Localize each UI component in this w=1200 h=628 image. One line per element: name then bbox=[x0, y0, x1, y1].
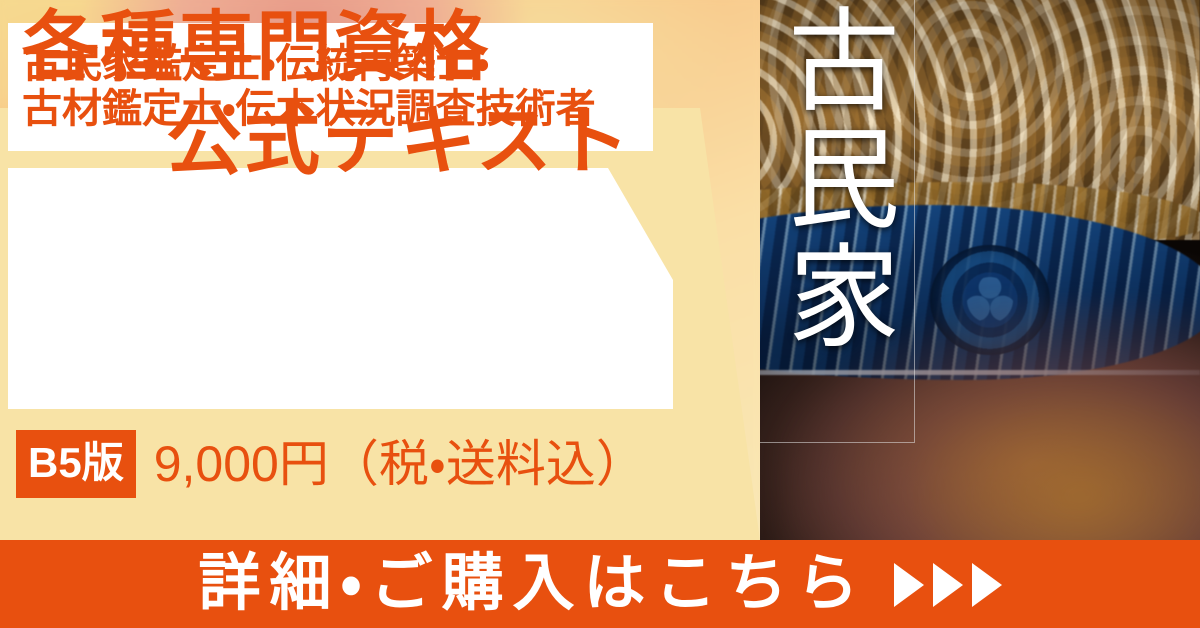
triangle-right-icon bbox=[894, 563, 924, 607]
format-badge-b5: B5版 bbox=[16, 430, 136, 498]
price-row: B5版 9,000円（税・送料込） bbox=[16, 430, 646, 498]
headline-card bbox=[8, 168, 673, 409]
cta-arrow-group bbox=[894, 563, 1002, 607]
triangle-right-icon bbox=[972, 563, 1002, 607]
cta-label: 詳細・ご購入はこちら bbox=[198, 553, 867, 615]
triangle-right-icon bbox=[933, 563, 963, 607]
promo-banner: 古民家 伝統構法 古民家活用のための調査と再生の 古民家鑑定士・伝統再築士・ 古… bbox=[0, 0, 1200, 628]
price-amount: 9,000円（税・送料込） bbox=[154, 439, 646, 489]
cta-bar[interactable]: 詳細・ご購入はこちら bbox=[0, 540, 1200, 628]
headline-line-1: 各種専門資格 bbox=[22, 10, 490, 86]
book-cover-title: 古民家 bbox=[786, 2, 896, 356]
headline-line-2: 公式テキスト bbox=[166, 104, 632, 180]
